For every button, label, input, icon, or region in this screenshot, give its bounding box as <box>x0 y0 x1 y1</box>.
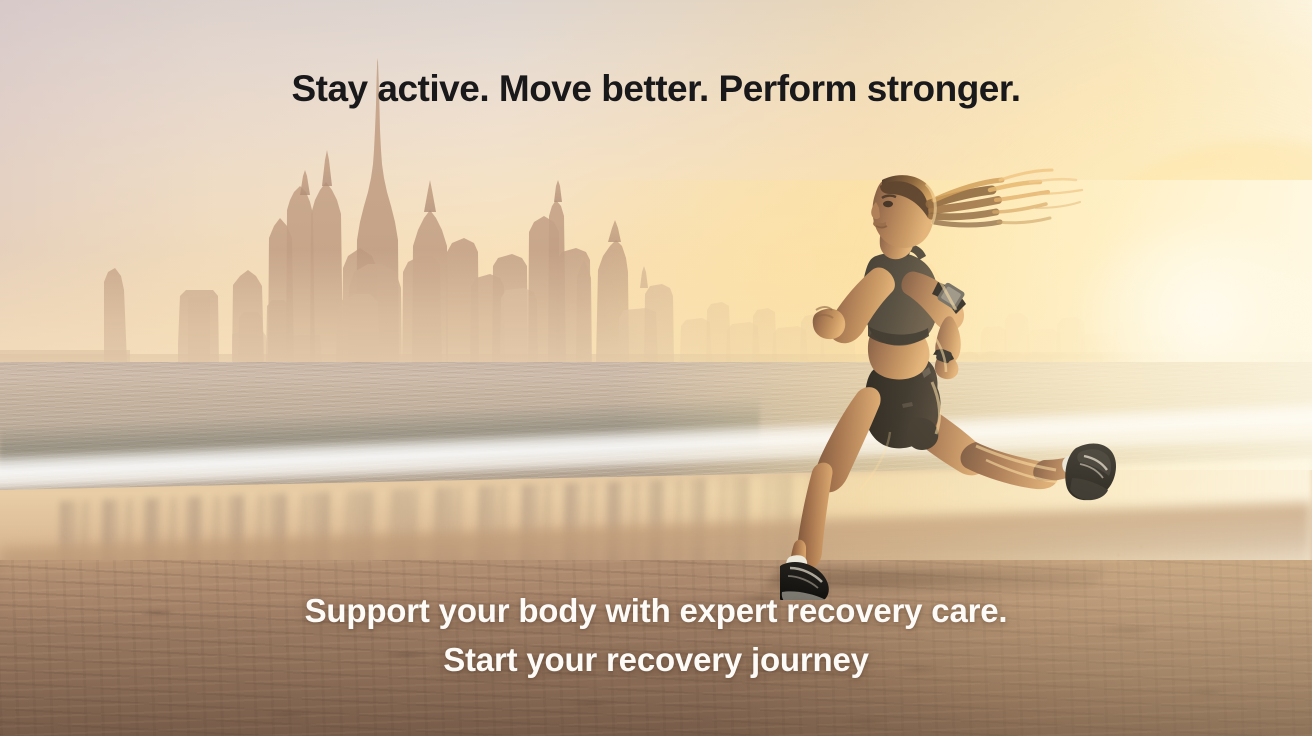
sand-spray-particles <box>1110 520 1170 590</box>
page-headline: Stay active. Move better. Perform strong… <box>0 68 1312 110</box>
runner-figure <box>780 160 1120 600</box>
subheadline-line-2: Start your recovery journey <box>0 635 1312 684</box>
subheadline-line-1: Support your body with expert recovery c… <box>0 586 1312 635</box>
subheadline-block: Support your body with expert recovery c… <box>0 586 1312 684</box>
hero-banner: Stay active. Move better. Perform strong… <box>0 0 1312 736</box>
